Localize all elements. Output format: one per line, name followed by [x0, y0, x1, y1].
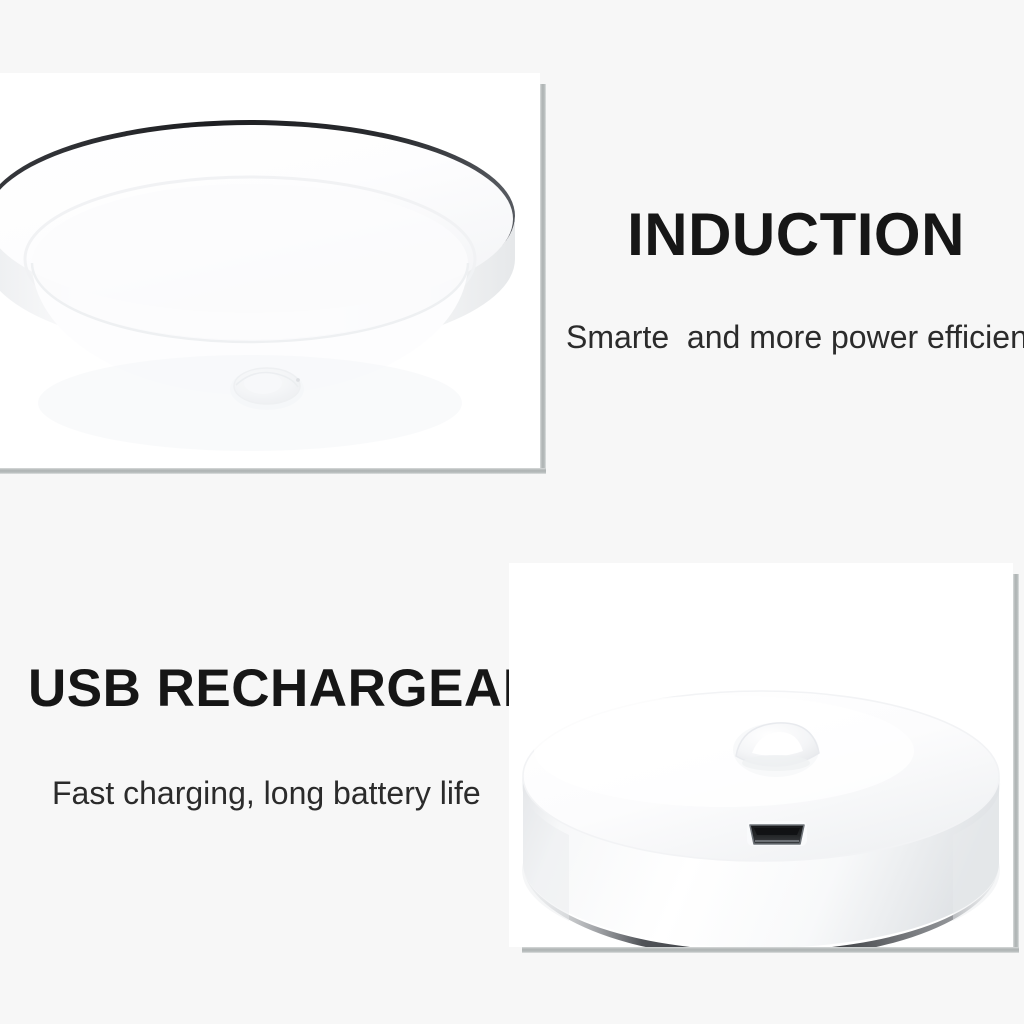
motion-sensor-puck-light-top-view-image — [0, 73, 540, 468]
induction-title: INDUCTION — [566, 205, 1018, 265]
usb-rechargeable-text-block: USB RECHARGEABLE Fast charging, long bat… — [28, 662, 504, 809]
product-feature-page: INDUCTION Smarte and more power efficien… — [0, 0, 1024, 1024]
induction-text-block: INDUCTION Smarte and more power efficien… — [566, 205, 1018, 353]
usb-panel-shadow-bottom — [522, 947, 1019, 953]
usb-rechargeable-photo-panel — [509, 563, 1013, 947]
usb-rechargeable-title: USB RECHARGEABLE — [28, 662, 504, 715]
usb-port-icon — [747, 821, 807, 846]
induction-panel-shadow-bottom — [0, 468, 546, 474]
induction-subtitle: Smarte and more power efficient — [566, 321, 1018, 353]
usb-panel-shadow-right — [1013, 574, 1019, 953]
induction-panel-shadow-right — [540, 84, 546, 474]
induction-photo-panel — [0, 73, 540, 468]
usb-rechargeable-subtitle: Fast charging, long battery life — [28, 777, 504, 809]
motion-sensor-puck-light-usb-port-view-image — [509, 563, 1013, 947]
